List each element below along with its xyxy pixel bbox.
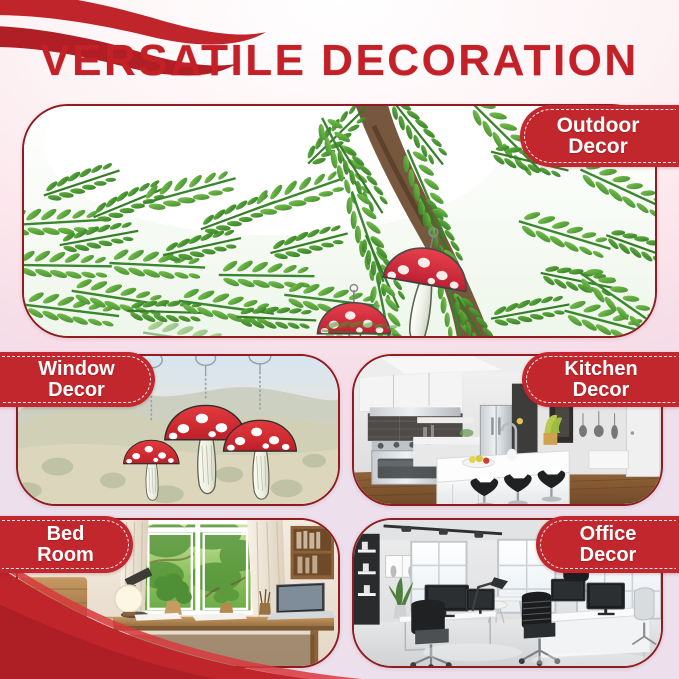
badge-window-line1: Window	[38, 359, 114, 379]
badge-kitchen-decor: Kitchen Decor	[522, 352, 679, 407]
badge-office-decor: Office Decor	[536, 516, 679, 573]
badge-outdoor-decor: Outdoor Decor	[520, 105, 679, 167]
badge-office-line1: Office	[580, 524, 637, 544]
badge-kitchen-line2: Decor	[573, 380, 630, 400]
badge-outdoor-line2: Decor	[568, 136, 628, 157]
badge-kitchen-line1: Kitchen	[564, 359, 637, 379]
badge-outdoor-line1: Outdoor	[557, 115, 640, 136]
badge-office-line2: Decor	[580, 545, 637, 565]
badge-window-decor: Window Decor	[0, 352, 155, 407]
badge-bed-room: Bed Room	[0, 516, 133, 573]
badge-bedroom-line2: Room	[37, 545, 94, 565]
page-title: VERSATILE DECORATION	[0, 36, 679, 86]
badge-bedroom-line1: Bed	[47, 524, 85, 544]
badge-window-line2: Decor	[48, 380, 105, 400]
